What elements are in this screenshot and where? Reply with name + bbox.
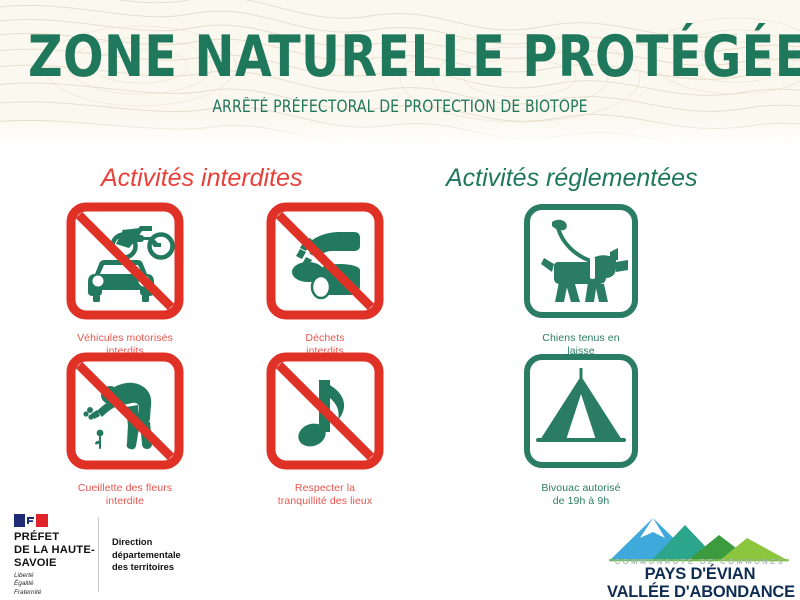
caption-line-1: Chiens tenus en (497, 332, 665, 345)
caption-line-1: Déchets (241, 332, 409, 345)
caption-bivouac-allowed: Bivouac autorisé de 19h à 9h (497, 482, 665, 507)
no-motor-vehicles-icon (66, 202, 184, 320)
caption-line-2: tranquillité des lieux (241, 495, 409, 508)
motto-line-2: Égalité (14, 580, 104, 588)
header-fade (0, 120, 800, 146)
section-heading-forbidden: Activités interdites (101, 164, 302, 193)
no-flower-picking-icon (66, 352, 184, 470)
footer-community-block: COMMUNAUTÉ DE COMMUNES PAYS D'ÉVIAN VALL… (607, 513, 793, 595)
caption-line-1: Cueillette des fleurs (41, 482, 209, 495)
footer-divider (98, 517, 99, 592)
caption-no-flower-picking: Cueillette des fleurs interdite (41, 482, 209, 507)
pictogram-dog-on-leash: Chiens tenus en laisse (497, 202, 665, 357)
pictogram-no-motor-vehicles: Véhicules motorisés interdits (41, 202, 209, 357)
pictogram-bivouac-allowed: Bivouac autorisé de 19h à 9h (497, 352, 665, 507)
republic-motto: Liberté Égalité Fraternité (14, 572, 104, 597)
dog-on-leash-icon (522, 202, 640, 320)
no-noise-music-note-icon (266, 352, 384, 470)
french-flag-icon (14, 514, 48, 527)
caption-respect-tranquility: Respecter la tranquillité des lieux (241, 482, 409, 507)
page-title: ZONE NATURELLE PROTÉGÉE (28, 26, 772, 88)
pictogram-no-littering: Déchets interdits (241, 202, 409, 357)
service-name: Direction départementale des territoires (112, 536, 242, 574)
header-banner: ZONE NATURELLE PROTÉGÉE ARRÊTÉ PRÉFECTOR… (0, 0, 800, 146)
mountain-range-icon (607, 513, 793, 563)
no-littering-icon (266, 202, 384, 320)
motto-line-3: Fraternité (14, 589, 104, 597)
caption-line-1: Bivouac autorisé (497, 482, 665, 495)
section-heading-regulated: Activités réglementées (446, 164, 698, 193)
caption-line-2: de 19h à 9h (497, 495, 665, 508)
community-name-line-1: PAYS D'ÉVIAN (607, 566, 793, 584)
community-name: PAYS D'ÉVIAN VALLÉE D'ABONDANCE (607, 566, 793, 600)
pictogram-no-flower-picking: Cueillette des fleurs interdite (41, 352, 209, 507)
community-name-line-2: VALLÉE D'ABONDANCE (607, 584, 793, 600)
service-line-2: départementale (112, 549, 242, 562)
poster-root: ZONE NATURELLE PROTÉGÉE ARRÊTÉ PRÉFECTOR… (0, 0, 800, 600)
caption-line-2: interdite (41, 495, 209, 508)
service-line-1: Direction (112, 536, 242, 549)
pictogram-respect-tranquility: Respecter la tranquillité des lieux (241, 352, 409, 507)
caption-line-1: Véhicules motorisés (41, 332, 209, 345)
page-subtitle: ARRÊTÉ PRÉFECTORAL DE PROTECTION DE BIOT… (20, 97, 780, 116)
tent-bivouac-icon (522, 352, 640, 470)
caption-line-1: Respecter la (241, 482, 409, 495)
footer-state-block: PRÉFET DE LA HAUTE- SAVOIE Liberté Égali… (14, 514, 314, 594)
service-line-3: des territoires (112, 561, 242, 574)
